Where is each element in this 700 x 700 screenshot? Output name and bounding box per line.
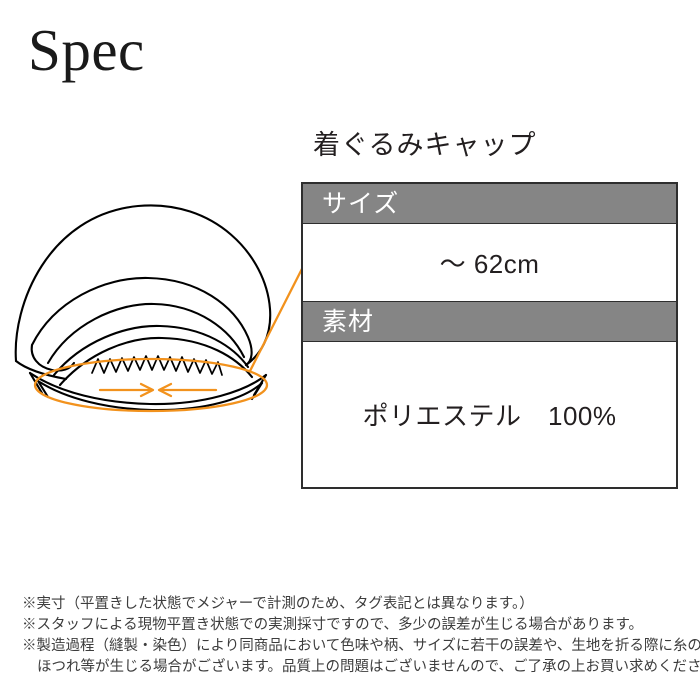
spec-value-material: ポリエステル 100% [303,342,676,486]
cap-outline-group [16,205,271,410]
spec-header-material: 素材 [303,302,676,342]
footnote-line-3: ※製造過程（縫製・染色）により同商品において色味や柄、サイズに若干の誤差や、生地… [22,636,687,657]
footnote-line-2: ※スタッフによる現物平置き状態での実測採寸ですので、多少の誤差が生じる場合があり… [22,615,687,636]
footnote-line-4: ほつれ等が生じる場合がございます。品質上の問題はございませんので、ご了承の上お買… [22,657,687,678]
size-leader-line [250,257,308,371]
spec-value-size: ～ 62cm [303,224,676,302]
cap-crown-outer [16,205,271,365]
table-row-material: 素材 ポリエステル 100% [303,302,676,486]
spec-header-size: サイズ [303,184,676,224]
cap-illustration [8,185,318,415]
footnote-line-1: ※実寸（平置きした状態でメジャーで計測のため、タグ表記とは異なります。） [22,594,687,615]
cap-illustration-svg [8,185,318,415]
product-name: 着ぐるみキャップ [313,129,536,161]
footnotes: ※実寸（平置きした状態でメジャーで計測のため、タグ表記とは異なります。） ※スタ… [22,594,687,678]
table-row-size: サイズ ～ 62cm [303,184,676,302]
cap-brim-inner [38,381,262,410]
spec-table: サイズ ～ 62cm 素材 ポリエステル 100% [301,182,678,489]
page-title: Spec [28,21,145,80]
